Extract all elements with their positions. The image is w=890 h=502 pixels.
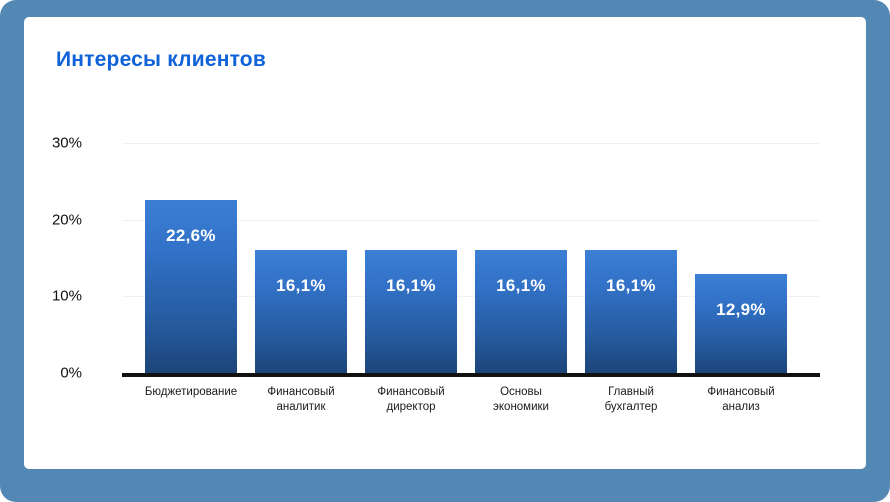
category-label-line: Финансовый xyxy=(347,385,475,400)
category-label-line: Главный xyxy=(567,385,695,400)
bar-group[interactable]: 16,1% xyxy=(475,250,567,373)
category-label: Финансовыйдиректор xyxy=(347,385,475,415)
bar-value-label: 16,1% xyxy=(255,276,347,296)
bar-group[interactable]: 16,1% xyxy=(255,250,347,373)
bar-group[interactable]: 22,6% xyxy=(145,200,237,373)
category-label-line: Финансовый xyxy=(237,385,365,400)
bar-value-label: 16,1% xyxy=(365,276,457,296)
category-label: Главныйбухгалтер xyxy=(567,385,695,415)
category-label-line: аналитик xyxy=(237,400,365,415)
category-label: Финансовыйанализ xyxy=(677,385,805,415)
bar[interactable]: 16,1% xyxy=(585,250,677,373)
bar[interactable]: 16,1% xyxy=(475,250,567,373)
category-label-line: анализ xyxy=(677,400,805,415)
bar-value-label: 16,1% xyxy=(585,276,677,296)
bar-value-label: 22,6% xyxy=(145,226,237,246)
bar[interactable]: 16,1% xyxy=(365,250,457,373)
bar-group[interactable]: 16,1% xyxy=(585,250,677,373)
category-label-line: Основы xyxy=(457,385,585,400)
bar-group[interactable]: 16,1% xyxy=(365,250,457,373)
category-label: Финансовыйаналитик xyxy=(237,385,365,415)
bar-value-label: 16,1% xyxy=(475,276,567,296)
category-label: Основыэкономики xyxy=(457,385,585,415)
bar-group[interactable]: 12,9% xyxy=(695,274,787,373)
outer-frame: Интересы клиентов 0%10%20%30% 22,6%16,1%… xyxy=(0,0,890,502)
category-label: Бюджетирование xyxy=(127,385,255,400)
bar[interactable]: 12,9% xyxy=(695,274,787,373)
category-label-line: экономики xyxy=(457,400,585,415)
bar-value-label: 12,9% xyxy=(695,300,787,320)
bar[interactable]: 16,1% xyxy=(255,250,347,373)
category-label-line: бухгалтер xyxy=(567,400,695,415)
category-label-line: директор xyxy=(347,400,475,415)
category-label-line: Финансовый xyxy=(677,385,805,400)
chart-card: Интересы клиентов 0%10%20%30% 22,6%16,1%… xyxy=(24,17,866,469)
bar[interactable]: 22,6% xyxy=(145,200,237,373)
category-label-line: Бюджетирование xyxy=(127,385,255,400)
